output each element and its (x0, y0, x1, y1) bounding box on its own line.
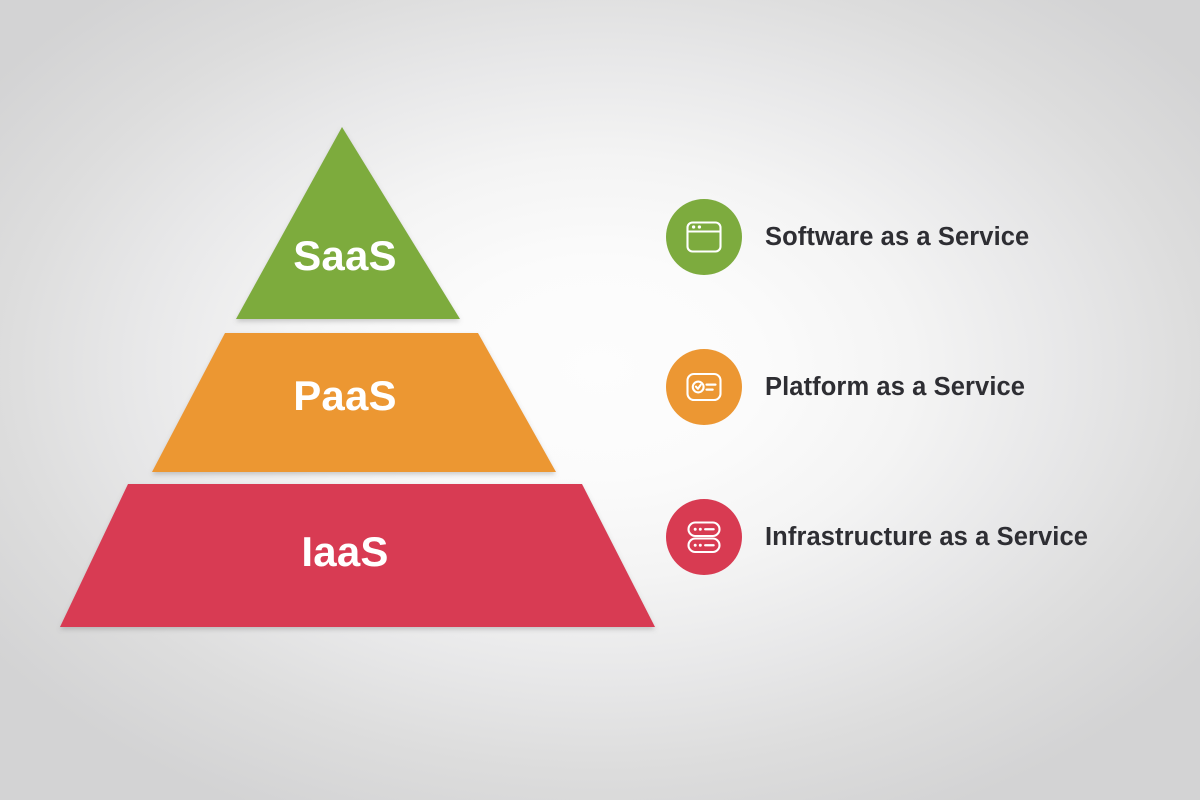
legend-label-iaas: Infrastructure as a Service (765, 499, 1088, 575)
legend-label-saas: Software as a Service (765, 199, 1029, 275)
legend-item-iaas[interactable]: Infrastructure as a Service (666, 499, 1186, 575)
id-card-check-icon (682, 365, 726, 409)
legend-badge-paas[interactable] (666, 349, 742, 425)
legend-badge-iaas[interactable] (666, 499, 742, 575)
diagram-canvas: SaaS PaaS IaaS Software as a Service (0, 0, 1200, 800)
legend-badge-saas[interactable] (666, 199, 742, 275)
legend-label-paas: Platform as a Service (765, 349, 1025, 425)
server-stack-icon (682, 515, 726, 559)
pyramid-tier-paas[interactable] (152, 333, 556, 472)
pyramid-tier-iaas[interactable] (60, 484, 655, 627)
browser-window-icon (682, 215, 726, 259)
legend-item-paas[interactable]: Platform as a Service (666, 349, 1186, 425)
legend: Software as a Service Platform as a Serv… (666, 199, 1186, 575)
legend-item-saas[interactable]: Software as a Service (666, 199, 1186, 275)
pyramid-tier-saas[interactable] (236, 127, 460, 319)
